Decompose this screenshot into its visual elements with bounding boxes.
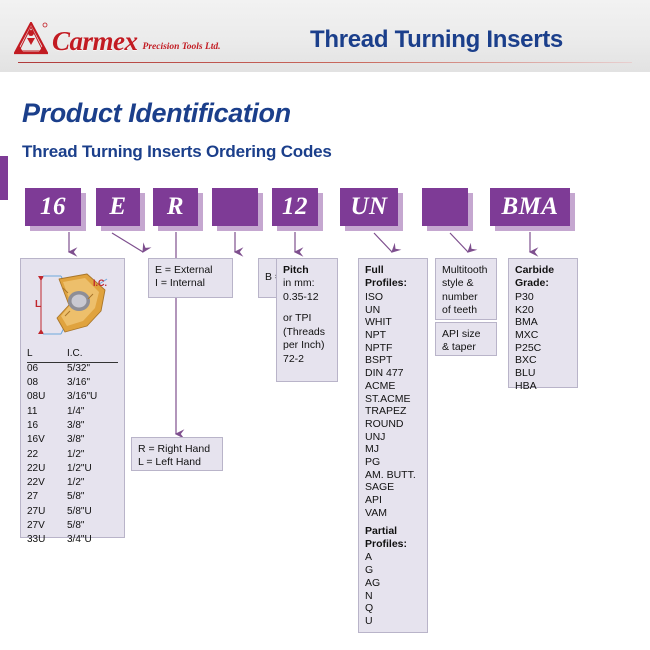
table-row: 111/4"	[27, 406, 118, 420]
cell-L: 22U	[27, 463, 67, 477]
list-item: SAGE	[365, 481, 421, 494]
multitooth-panel: Multitooth style & number of teeth	[435, 258, 497, 320]
list-item: P25C	[515, 342, 571, 355]
list-item: N	[365, 590, 421, 603]
list-item: ACME	[365, 380, 421, 393]
table-row: 163/8"	[27, 420, 118, 434]
cell-L: 22	[27, 449, 67, 463]
code-box-grade[interactable]: BMA	[490, 188, 570, 226]
code-box-hand[interactable]: R	[153, 188, 198, 226]
list-item: AM. BUTT.	[365, 469, 421, 482]
full-profiles-list: ISO UN WHIT NPT NPTF BSPT DIN 477 ACME S…	[365, 291, 421, 520]
code-box-profile[interactable]: UN	[340, 188, 398, 226]
pitch-title: Pitch	[283, 264, 331, 277]
cell-ic: 1/2"	[67, 449, 118, 463]
cell-L: 16	[27, 420, 67, 434]
brand-name: Carmex	[52, 28, 138, 55]
table-header-row: L I.C.	[27, 348, 118, 362]
list-item: U	[365, 615, 421, 628]
list-item: BMA	[515, 316, 571, 329]
list-item: UNJ	[365, 431, 421, 444]
list-item: API	[365, 494, 421, 507]
list-item: ROUND	[365, 418, 421, 431]
list-item: ISO	[365, 291, 421, 304]
carbide-title-1: Carbide	[515, 264, 571, 277]
page-subtitle: Thread Turning Inserts Ordering Codes	[22, 142, 332, 162]
pitch-tpi-note2: per Inch)	[283, 339, 331, 352]
full-profiles-title-1: Full	[365, 264, 421, 277]
list-item: Q	[365, 602, 421, 615]
table-row: 221/2"	[27, 449, 118, 463]
list-item: P30	[515, 291, 571, 304]
api-size-line: API size	[442, 328, 490, 341]
list-item: PG	[365, 456, 421, 469]
full-profiles-title-2: Profiles:	[365, 277, 421, 290]
code-box-multitooth[interactable]	[422, 188, 468, 226]
list-item: NPTF	[365, 342, 421, 355]
cell-ic: 5/8"	[67, 491, 118, 505]
list-item: WHIT	[365, 316, 421, 329]
list-item: MJ	[365, 443, 421, 456]
cell-ic: 5/8"U	[67, 506, 118, 520]
list-item: MXC	[515, 329, 571, 342]
list-item: BLU	[515, 367, 571, 380]
code-box-size[interactable]: 16	[25, 188, 81, 226]
cell-ic: 1/2"	[67, 477, 118, 491]
internal-line: I = Internal	[155, 277, 226, 290]
code-box-pitch[interactable]: 12	[272, 188, 318, 226]
pitch-mm-label: in mm:	[283, 277, 331, 290]
api-taper-line: & taper	[442, 341, 490, 354]
column-header-IC: I.C.	[67, 348, 118, 362]
cell-ic: 5/32"	[67, 362, 118, 377]
pitch-tpi-range: 72-2	[283, 353, 331, 366]
carmex-triangle-logo-icon	[14, 22, 48, 55]
multitooth-line-2: style &	[442, 277, 490, 290]
code-box-type[interactable]	[212, 188, 258, 226]
cell-L: 08U	[27, 391, 67, 405]
brand-logo: Carmex Precision Tools Ltd.	[14, 22, 221, 55]
list-item: AG	[365, 577, 421, 590]
page-header: Carmex Precision Tools Ltd. Thread Turni…	[0, 0, 650, 72]
partial-profiles-title-2: Profiles:	[365, 538, 421, 551]
table-row: 08U3/16"U	[27, 391, 118, 405]
cell-L: 16V	[27, 434, 67, 448]
list-item: K20	[515, 304, 571, 317]
list-item: NPT	[365, 329, 421, 342]
brand-subtitle: Precision Tools Ltd.	[143, 43, 221, 53]
page-title: Product Identification	[22, 98, 291, 129]
carbide-title-2: Grade:	[515, 277, 571, 290]
cell-L: 11	[27, 406, 67, 420]
list-item: TRAPEZ	[365, 405, 421, 418]
list-item: DIN 477	[365, 367, 421, 380]
table-row: 22V1/2"	[27, 477, 118, 491]
profiles-panel: Full Profiles: ISO UN WHIT NPT NPTF BSPT…	[358, 258, 428, 633]
cell-L: 33U	[27, 534, 67, 548]
left-hand-line: L = Left Hand	[138, 456, 216, 469]
code-box-ext-int[interactable]: E	[96, 188, 140, 226]
multitooth-line-4: of teeth	[442, 304, 490, 317]
cell-ic: 1/2"U	[67, 463, 118, 477]
pitch-tpi-label: or TPI	[283, 312, 331, 325]
right-hand-line: R = Right Hand	[138, 443, 216, 456]
size-table: L I.C. 065/32" 083/16" 08U3/16"U 111/4" …	[27, 348, 118, 549]
column-header-L: L	[27, 348, 67, 362]
cell-ic: 3/8"	[67, 420, 118, 434]
cell-ic: 1/4"	[67, 406, 118, 420]
table-row: 083/16"	[27, 377, 118, 391]
dimension-label-IC: I.C.	[93, 278, 107, 290]
cell-L: 27V	[27, 520, 67, 534]
cell-L: 06	[27, 362, 67, 377]
cell-ic: 3/16"	[67, 377, 118, 391]
table-row: 16V3/8"	[27, 434, 118, 448]
table-row: 275/8"	[27, 491, 118, 505]
external-line: E = External	[155, 264, 226, 277]
list-item: A	[365, 551, 421, 564]
pitch-mm-range: 0.35-12	[283, 291, 331, 304]
cell-L: 27	[27, 491, 67, 505]
header-divider	[18, 62, 632, 63]
table-row: 27U5/8"U	[27, 506, 118, 520]
list-item: ST.ACME	[365, 393, 421, 406]
multitooth-line-3: number	[442, 291, 490, 304]
list-item: HBA	[515, 380, 571, 393]
dimension-label-L: L	[35, 299, 41, 312]
list-item: BXC	[515, 354, 571, 367]
list-item: UN	[365, 304, 421, 317]
carbide-grade-list: P30 K20 BMA MXC P25C BXC BLU HBA	[515, 291, 571, 393]
list-item: BSPT	[365, 354, 421, 367]
cell-ic: 3/4"U	[67, 534, 118, 548]
cell-ic: 3/8"	[67, 434, 118, 448]
partial-profiles-title-1: Partial	[365, 525, 421, 538]
table-row: 33U3/4"U	[27, 534, 118, 548]
external-internal-panel: E = External I = Internal	[148, 258, 233, 298]
pitch-tpi-note1: (Threads	[283, 326, 331, 339]
right-left-hand-panel: R = Right Hand L = Left Hand	[131, 437, 223, 471]
api-panel: API size & taper	[435, 322, 497, 356]
carbide-grade-panel: Carbide Grade: P30 K20 BMA MXC P25C BXC …	[508, 258, 578, 388]
cell-ic: 5/8"	[67, 520, 118, 534]
list-item: VAM	[365, 507, 421, 520]
left-accent-bar	[0, 156, 8, 200]
insert-figure: L I.C.	[27, 266, 118, 346]
table-row: 065/32"	[27, 362, 118, 377]
cell-L: 27U	[27, 506, 67, 520]
cell-L: 08	[27, 377, 67, 391]
table-row: 22U1/2"U	[27, 463, 118, 477]
list-item: G	[365, 564, 421, 577]
table-row: 27V5/8"	[27, 520, 118, 534]
size-panel: L I.C. L I.C. 065/32" 083/16" 08U3/16"U …	[20, 258, 125, 538]
pitch-panel: Pitch in mm: 0.35-12 or TPI (Threads per…	[276, 258, 338, 382]
header-title: Thread Turning Inserts	[310, 26, 563, 54]
multitooth-line-1: Multitooth	[442, 264, 490, 277]
partial-profiles-list: A G AG N Q U	[365, 551, 421, 627]
cell-L: 22V	[27, 477, 67, 491]
cell-ic: 3/16"U	[67, 391, 118, 405]
